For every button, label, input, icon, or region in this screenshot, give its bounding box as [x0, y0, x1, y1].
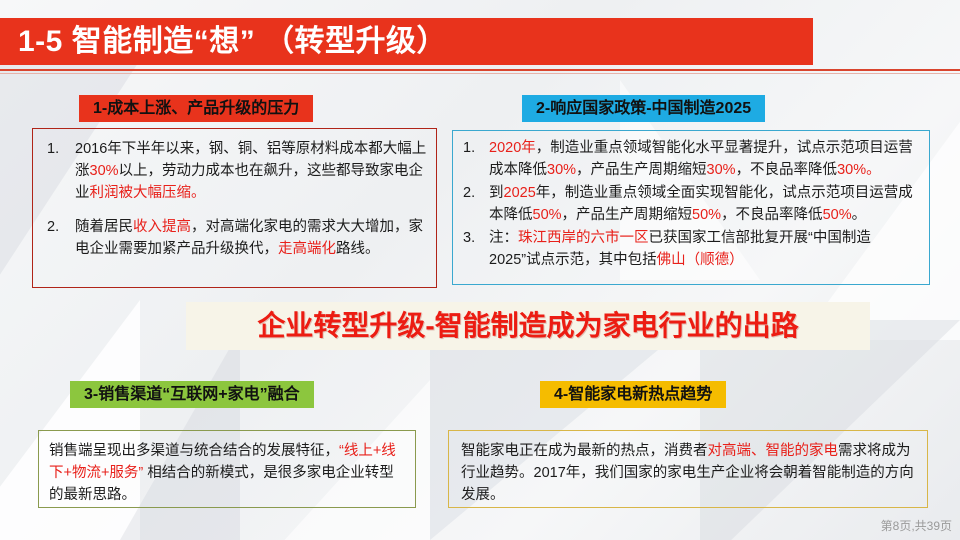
section-1-header-chip: 1-成本上涨、产品升级的压力: [79, 95, 313, 122]
body-text: 销售端呈现出多渠道与统合结合的发展特征，: [49, 443, 339, 459]
highlighted-text: 30%: [547, 162, 576, 178]
body-text: 到: [489, 185, 504, 201]
section-2-header-chip: 2-响应国家政策-中国制造2025: [522, 95, 765, 122]
list-item: 2.随着居民收入提高，对高端化家电的需求大大增加，家电企业需要加紧产品升级换代，…: [41, 216, 428, 260]
highlighted-text: 30%。: [837, 162, 881, 178]
slide-title: 1-5 智能制造“想” （转型升级）: [18, 21, 798, 63]
body-text: ，不良品率降低: [721, 207, 823, 223]
body-text: 路线。: [336, 241, 380, 257]
body-text: ，不良品率降低: [736, 162, 838, 178]
body-text: ，产品生产周期缩短: [562, 207, 693, 223]
section-4-paragraph: 智能家电正在成为最新的热点，消费者对高端、智能的家电需求将成为行业趋势。2017…: [461, 440, 915, 506]
highlighted-text: 2020年: [489, 140, 536, 156]
highlighted-text: 50%: [823, 207, 852, 223]
list-item-number: 3.: [463, 227, 485, 249]
slide-canvas: 1-5 智能制造“想” （转型升级） 1-成本上涨、产品升级的压力 1.2016…: [0, 0, 960, 540]
highlighted-text: 利润被大幅压缩。: [90, 185, 206, 201]
highlighted-text: 30%: [707, 162, 736, 178]
title-divider-line: [0, 69, 960, 71]
highlighted-text: 走高端化: [278, 241, 336, 257]
section-1-list: 1.2016年下半年以来，钢、铜、铝等原材料成本都大幅上涨30%以上，劳动力成本…: [41, 138, 428, 260]
section-2-list: 1.2020年，制造业重点领域智能化水平显著提升，试点示范项目运营成本降低30%…: [459, 137, 921, 271]
title-divider-line-secondary: [0, 73, 960, 74]
highlighted-text: 佛山（顺德）: [657, 252, 744, 268]
body-text: 智能家电正在成为最新的热点，消费者: [461, 443, 708, 459]
list-item-number: 1.: [463, 137, 485, 159]
list-item: 2.到2025年，制造业重点领域全面实现智能化，试点示范项目运营成本降低50%，…: [459, 182, 921, 226]
list-item-number: 1.: [47, 138, 69, 160]
body-text: 注：: [489, 230, 518, 246]
highlighted-text: 珠江西岸的六市一区: [518, 230, 649, 246]
highlighted-text: 50%: [533, 207, 562, 223]
section-3-header-chip: 3-销售渠道“互联网+家电”融合: [70, 381, 314, 408]
body-text: ，产品生产周期缩短: [576, 162, 707, 178]
highlighted-text: 2025: [504, 185, 536, 201]
page-number-footer: 第8页,共39页: [881, 517, 952, 534]
list-item: 3.注：珠江西岸的六市一区已获国家工信部批复开展“中国制造2025”试点示范，其…: [459, 227, 921, 271]
highlighted-text: 收入提高: [133, 219, 191, 235]
body-text: 。: [852, 207, 867, 223]
section-4-header-chip: 4-智能家电新热点趋势: [540, 381, 726, 408]
section-4-content-box: 智能家电正在成为最新的热点，消费者对高端、智能的家电需求将成为行业趋势。2017…: [448, 430, 928, 508]
section-3-content-box: 销售端呈现出多渠道与统合结合的发展特征，“线上+线下+物流+服务” 相结合的新模…: [38, 430, 416, 508]
list-item: 1.2020年，制造业重点领域智能化水平显著提升，试点示范项目运营成本降低30%…: [459, 137, 921, 181]
highlighted-text: 50%: [692, 207, 721, 223]
list-item: 1.2016年下半年以来，钢、铜、铝等原材料成本都大幅上涨30%以上，劳动力成本…: [41, 138, 428, 204]
body-text: 随着居民: [75, 219, 133, 235]
section-3-paragraph: 销售端呈现出多渠道与统合结合的发展特征，“线上+线下+物流+服务” 相结合的新模…: [49, 440, 405, 506]
list-item-number: 2.: [47, 216, 69, 238]
highlighted-text: 30%: [90, 163, 119, 179]
center-banner-text: 企业转型升级-智能制造成为家电行业的出路: [186, 303, 870, 349]
section-1-content-box: 1.2016年下半年以来，钢、铜、铝等原材料成本都大幅上涨30%以上，劳动力成本…: [32, 128, 437, 288]
list-item-number: 2.: [463, 182, 485, 204]
section-2-content-box: 1.2020年，制造业重点领域智能化水平显著提升，试点示范项目运营成本降低30%…: [452, 130, 930, 285]
highlighted-text: 对高端、智能的家电: [708, 443, 839, 459]
